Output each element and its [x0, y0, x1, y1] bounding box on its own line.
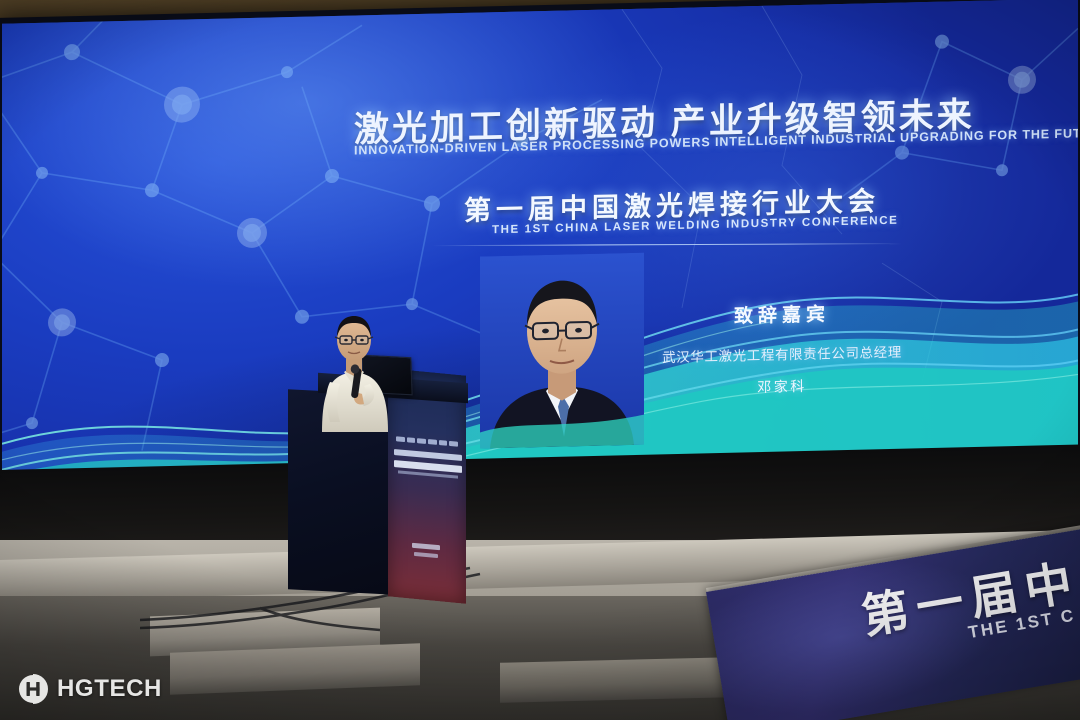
hgtech-brand-text: HGTECH: [57, 675, 162, 703]
speaker-name: 邓家科: [652, 373, 912, 399]
conference-photo-scene: 激光加工创新驱动 产业升级智领未来 INNOVATION-DRIVEN LASE…: [0, 0, 1080, 720]
stage-step-right: [500, 657, 730, 703]
led-screen-content: 激光加工创新驱动 产业升级智领未来 INNOVATION-DRIVEN LASE…: [2, 0, 1078, 502]
led-screen: 激光加工创新驱动 产业升级智领未来 INNOVATION-DRIVEN LASE…: [2, 0, 1078, 502]
speaker-portrait-image: [480, 253, 644, 449]
hgtech-logo-icon: [18, 674, 48, 704]
speaker-info-block: 致辞嘉宾 武汉华工激光工程有限责任公司总经理 邓家科: [652, 297, 912, 399]
led-screen-frame: 激光加工创新驱动 产业升级智领未来 INNOVATION-DRIVEN LASE…: [0, 0, 1080, 510]
presenter: [308, 312, 400, 432]
hgtech-watermark: HGTECH: [18, 674, 162, 704]
speaker-company: 武汉华工激光工程有限责任公司总经理: [652, 340, 912, 366]
divider-line: [432, 243, 902, 246]
speaker-role: 致辞嘉宾: [652, 297, 912, 330]
